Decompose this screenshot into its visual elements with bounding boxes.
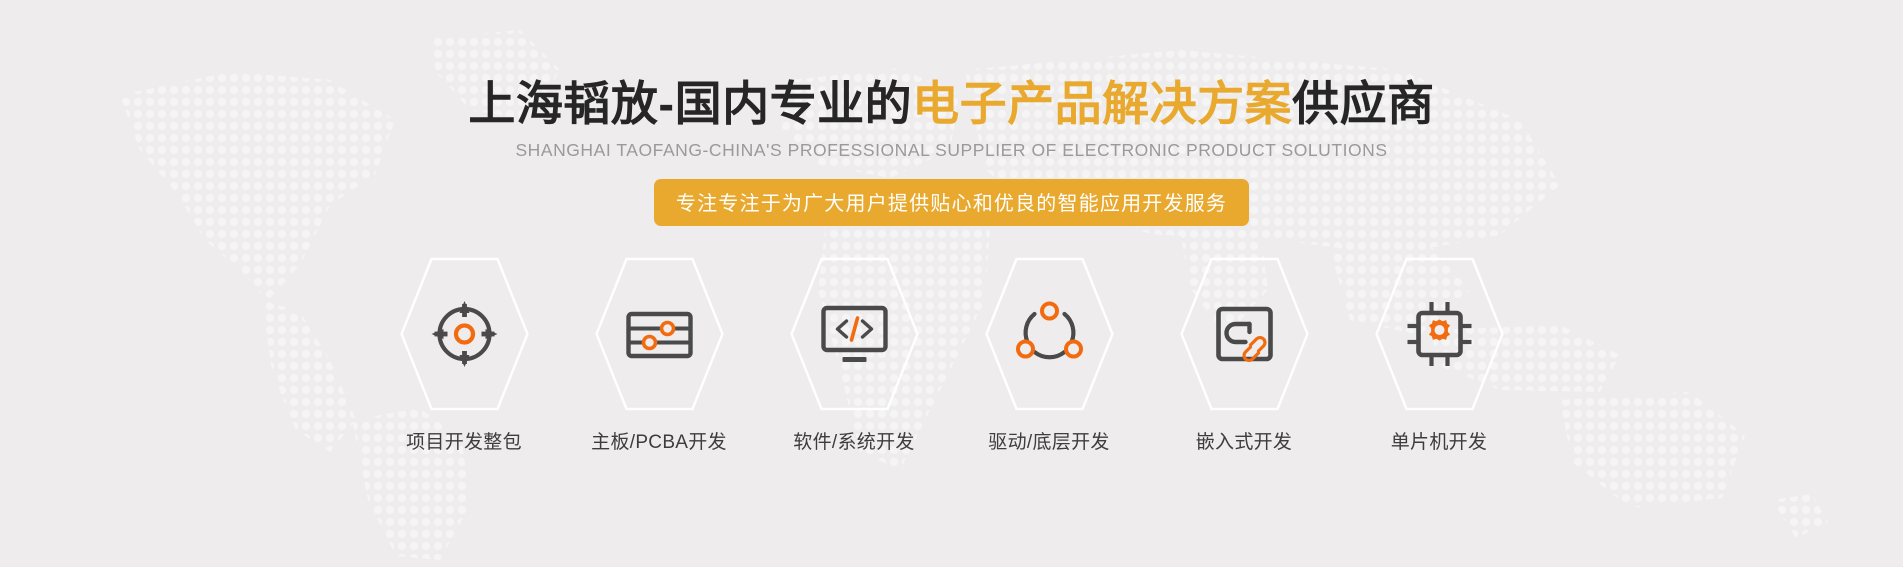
- headline-block: 上海韬放-国内专业的电子产品解决方案供应商 SHANGHAI TAOFANG-C…: [0, 0, 1903, 226]
- tagline-badge: 专注专注于为广大用户提供贴心和优良的智能应用开发服务: [654, 179, 1249, 226]
- service-label: 软件/系统开发: [793, 427, 914, 454]
- hex-tile: [594, 255, 724, 413]
- service-label: 单片机开发: [1391, 427, 1488, 454]
- hex-tile: [1374, 255, 1504, 413]
- service-item-embedded[interactable]: 嵌入式开发: [1179, 255, 1309, 454]
- page-subtitle: SHANGHAI TAOFANG-CHINA'S PROFESSIONAL SU…: [515, 140, 1387, 161]
- title-part-1: 上海韬放-国内专业的: [468, 77, 912, 130]
- service-label: 嵌入式开发: [1196, 427, 1293, 454]
- service-label: 主板/PCBA开发: [591, 427, 727, 454]
- crosshair-target-icon: [428, 298, 500, 370]
- hex-tile: [984, 255, 1114, 413]
- microcontroller-gear-icon: [1401, 296, 1477, 372]
- service-item-software[interactable]: 软件/系统开发: [789, 255, 919, 454]
- hex-tile: [789, 255, 919, 413]
- service-item-driver[interactable]: 驱动/底层开发: [984, 255, 1114, 454]
- circuit-board-icon: [622, 297, 696, 371]
- monitor-code-icon: [816, 296, 892, 372]
- service-item-pcba[interactable]: 主板/PCBA开发: [594, 255, 724, 454]
- service-label: 驱动/底层开发: [988, 427, 1109, 454]
- hex-tile: [1179, 255, 1309, 413]
- service-item-project-package[interactable]: 项目开发整包: [399, 255, 529, 454]
- network-nodes-icon: [1012, 297, 1086, 371]
- page-title: 上海韬放-国内专业的电子产品解决方案供应商: [468, 78, 1434, 131]
- service-item-mcu[interactable]: 单片机开发: [1374, 255, 1504, 454]
- embedded-chip-link-icon: [1208, 298, 1280, 370]
- service-label: 项目开发整包: [406, 427, 522, 454]
- service-list: 项目开发整包 主板/PCBA开发: [399, 255, 1504, 454]
- hero-banner: 上海韬放-国内专业的电子产品解决方案供应商 SHANGHAI TAOFANG-C…: [0, 0, 1903, 567]
- title-highlight: 电子产品解决方案: [912, 77, 1292, 130]
- hex-tile: [399, 255, 529, 413]
- title-part-2: 供应商: [1292, 77, 1435, 130]
